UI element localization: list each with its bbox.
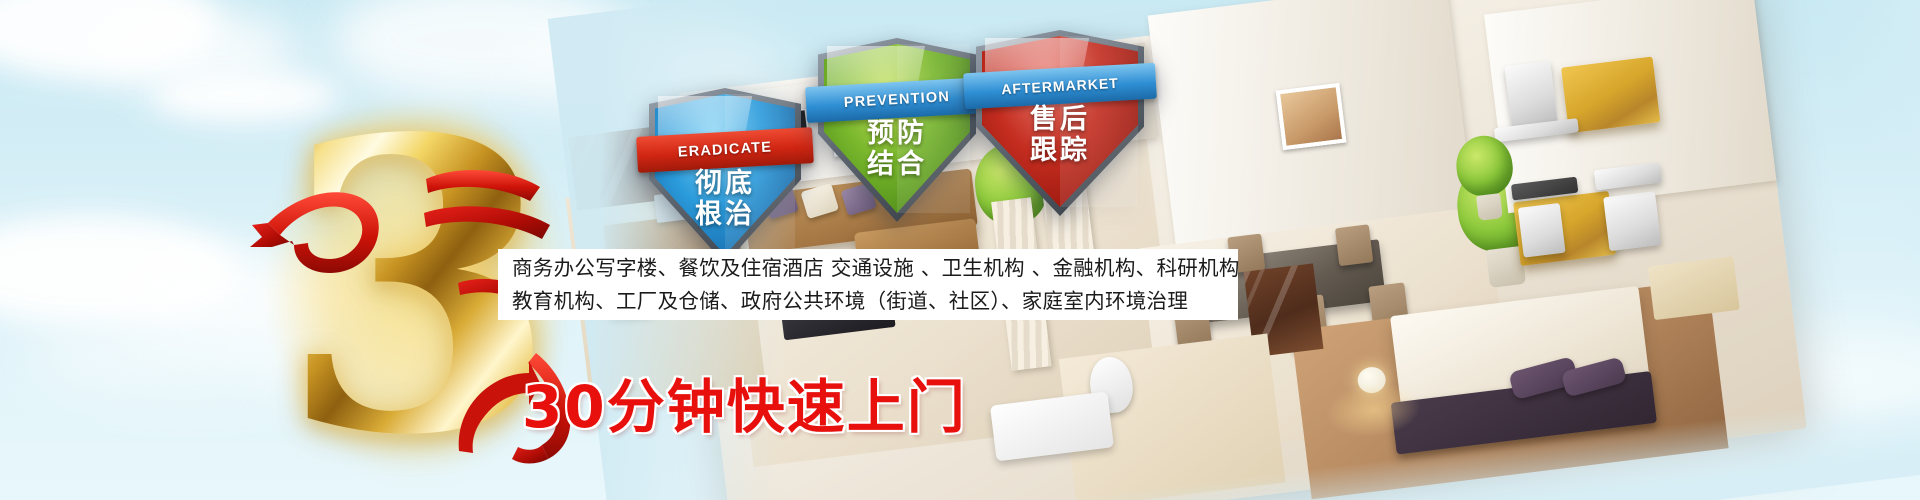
service-scope-panel: 商务办公写字楼、餐饮及住宿酒店 交通设施 、卫生机构 、金融机构、科研机构 教育… (498, 249, 1238, 320)
shield-sash-label: AFTERMARKET (1001, 75, 1119, 98)
shield-cn-line1: 预防 (818, 118, 976, 149)
shield-cn-text: 预防 结合 (818, 118, 976, 180)
shield-cn-line1: 彻底 (649, 168, 801, 199)
ribbon-top-right (426, 170, 540, 201)
shield-prevention[interactable]: PREVENTION 预防 结合 (818, 38, 976, 222)
shield-aftermarket[interactable]: AFTERMARKET 售后 跟踪 (976, 30, 1144, 216)
ribbon-top-left (268, 192, 379, 273)
shield-eradicate[interactable]: ERADICATE 彻底 根治 (649, 88, 801, 264)
dining-wall-art (1276, 83, 1347, 150)
headline-text: 30分钟快速上门 (522, 360, 967, 444)
dishwasher (1603, 191, 1661, 251)
ribbon-top-right-2 (424, 206, 550, 239)
dining-chair (1335, 224, 1373, 266)
shield-cn-line1: 售后 (976, 104, 1144, 135)
shield-cn-text: 彻底 根治 (649, 168, 801, 230)
scope-line-1: 商务办公写字楼、餐饮及住宿酒店 交通设施 、卫生机构 、金融机构、科研机构 (512, 252, 1226, 285)
shield-cn-line2: 结合 (818, 149, 976, 180)
shield-sash-label: ERADICATE (677, 139, 772, 160)
oven (1518, 203, 1566, 258)
scope-line-2: 教育机构、工厂及仓储、政府公共环境（街道、社区）、家庭室内环境治理 (512, 285, 1226, 318)
shield-cn-line2: 跟踪 (976, 135, 1144, 166)
bedroom-rug (1648, 256, 1740, 320)
promo-banner: ERADICATE 彻底 根治 PREVENTION 预防 结合 AFTERMA… (0, 0, 1920, 500)
range-hood (1504, 61, 1557, 128)
shield-sash-label: PREVENTION (843, 89, 950, 111)
shield-cn-line2: 根治 (649, 199, 801, 230)
plant-leaves (1453, 133, 1516, 200)
shield-cn-text: 售后 跟踪 (976, 104, 1144, 166)
potted-plant (1453, 133, 1519, 223)
plant-pot (1476, 193, 1504, 221)
